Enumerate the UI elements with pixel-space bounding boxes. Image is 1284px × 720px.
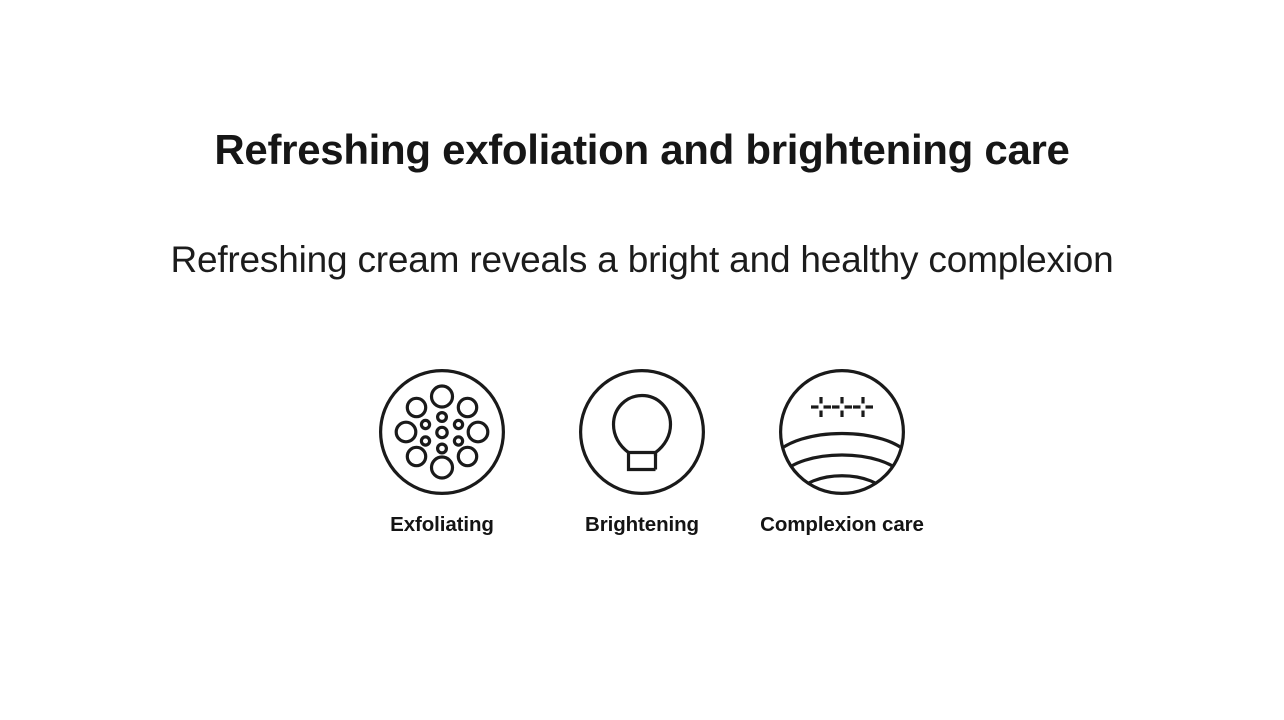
lightbulb-circle-icon (578, 368, 706, 496)
feature-list: Exfoliating Brightening (0, 368, 1284, 538)
feature-item-complexion-care: Complexion care (774, 368, 910, 538)
feature-item-exfoliating: Exfoliating (374, 368, 510, 538)
feature-item-brightening: Brightening (574, 368, 710, 538)
feature-label-complexion-care: Complexion care (757, 511, 927, 538)
page-subtitle: Refreshing cream reveals a bright and he… (0, 238, 1284, 282)
feature-label-exfoliating: Exfoliating (357, 511, 527, 538)
page-title: Refreshing exfoliation and brightening c… (0, 126, 1284, 174)
sparkle-marks (811, 397, 873, 417)
slide-canvas: Refreshing exfoliation and brightening c… (0, 0, 1284, 720)
bubbles-circle-icon (378, 368, 506, 496)
sparkle-waves-circle-icon (778, 368, 906, 496)
feature-label-brightening: Brightening (557, 511, 727, 538)
wave-arcs (778, 434, 906, 497)
